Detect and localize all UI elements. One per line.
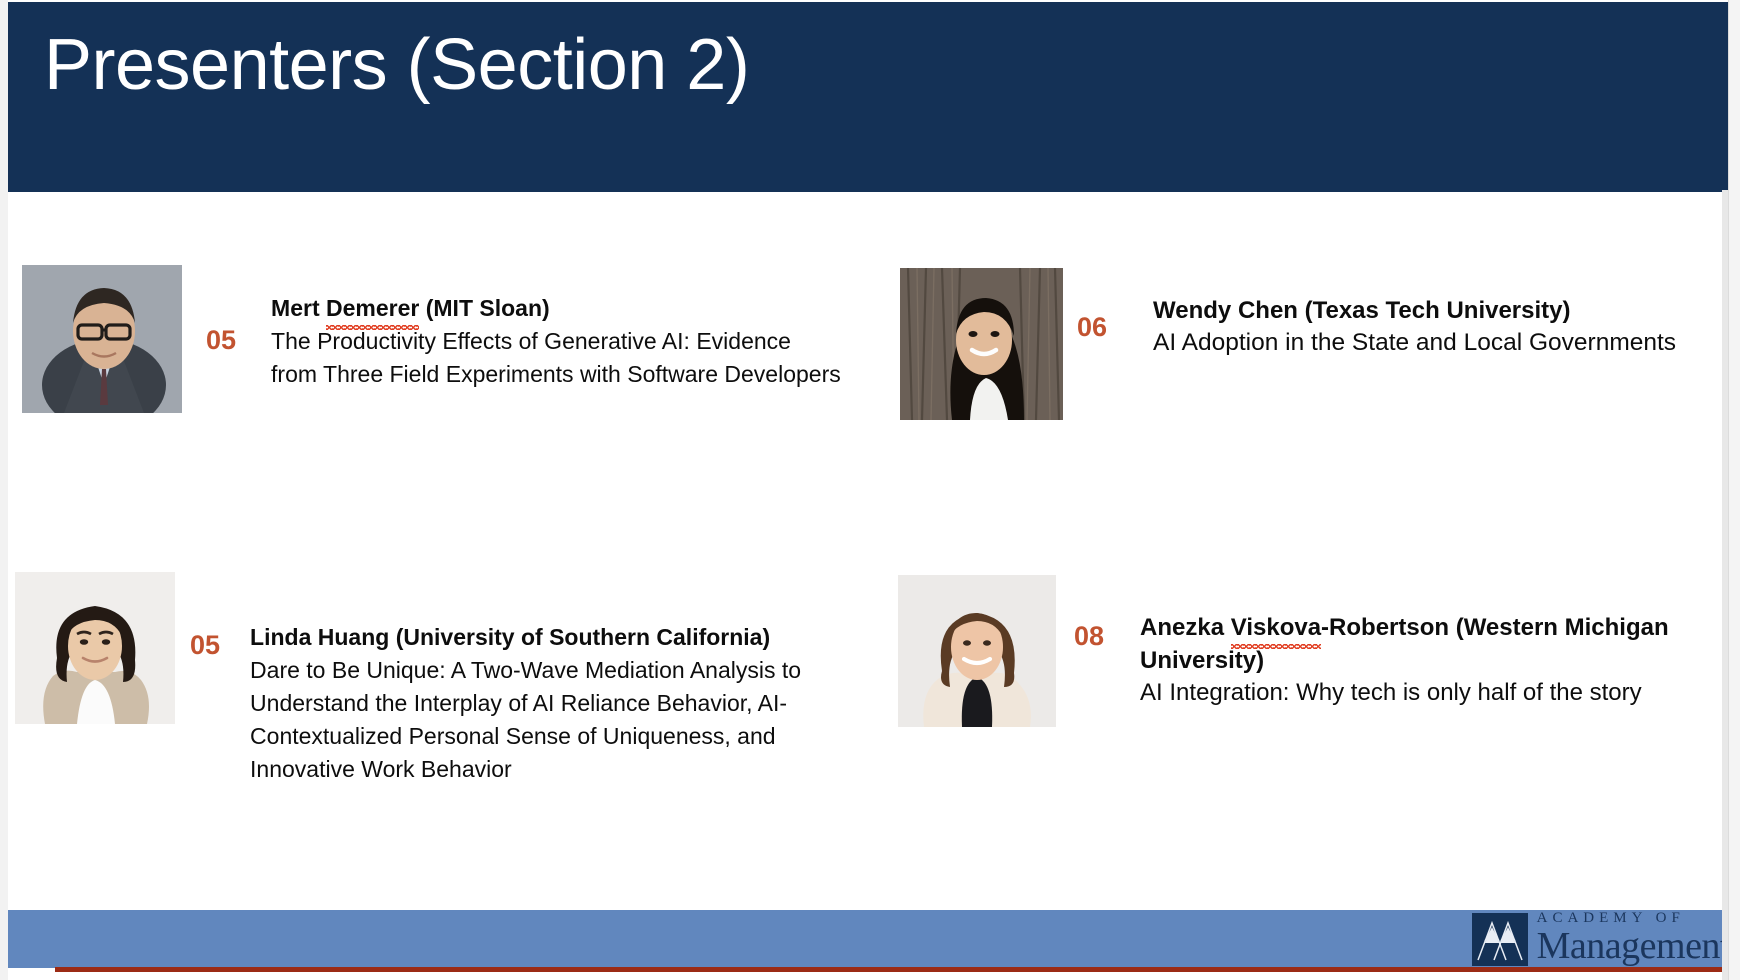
presenter-paper-title-4: AI Integration: Why tech is only half of…: [1140, 677, 1736, 709]
slide-title-banner: Presenters (Section 2): [8, 2, 1730, 192]
presenter-number-2: 06: [1077, 314, 1107, 341]
slide-left-gutter: [0, 0, 8, 980]
aom-wordmark-line2: Management: [1537, 927, 1730, 965]
presentation-slide: Presenters (Section 2) 05 Mert Demerer (…: [0, 0, 1740, 980]
presenter-paper-title-1: The Productivity Effects of Generative A…: [271, 325, 842, 391]
presenter-name-1-part-b: (MIT Sloan): [419, 295, 549, 321]
presenter-name-1-part-a: Mert: [271, 295, 326, 321]
presenter-entry-2: 06 Wendy Chen (Texas Tech University) AI…: [900, 268, 1730, 420]
slide-footer-rule: [55, 967, 1730, 972]
presenter-photo-4: [898, 575, 1056, 727]
presenter-paper-title-2: AI Adoption in the State and Local Gover…: [1153, 327, 1730, 360]
presenter-photo-3: [15, 572, 175, 724]
presenter-photo-2: [900, 268, 1063, 420]
presenter-name-1: Mert Demerer (MIT Sloan): [271, 293, 842, 325]
presenter-name-1-misspelled: Demerer: [326, 293, 419, 325]
presenter-number-3: 05: [190, 632, 220, 659]
presenter-entry-1: 05 Mert Demerer (MIT Sloan) The Producti…: [22, 265, 842, 413]
presenter-entry-4: 08 Anezka Viskova-Robertson (Western Mic…: [898, 575, 1736, 727]
page-title: Presenters (Section 2): [44, 24, 749, 106]
presenter-text-block-4: Anezka Viskova-Robertson (Western Michig…: [1140, 611, 1736, 710]
presenter-name-4: Anezka Viskova-Robertson (Western Michig…: [1140, 611, 1736, 677]
presenter-number-4: 08: [1074, 623, 1104, 650]
presenter-text-block-3: Linda Huang (University of Southern Cali…: [250, 622, 845, 786]
presenter-name-2: Wendy Chen (Texas Tech University): [1153, 294, 1730, 327]
presenter-paper-title-3: Dare to Be Unique: A Two-Wave Mediation …: [250, 654, 845, 786]
presenter-name-4-part-a: Anezka: [1140, 614, 1231, 641]
aom-mountain-mark-icon: [1472, 913, 1528, 966]
aom-wordmark-line1: ACADEMY OF: [1537, 911, 1730, 926]
presenter-text-block-2: Wendy Chen (Texas Tech University) AI Ad…: [1153, 294, 1730, 360]
presenter-text-block-1: Mert Demerer (MIT Sloan) The Productivit…: [271, 293, 842, 391]
presenter-number-1: 05: [206, 327, 236, 354]
presenter-photo-1: [22, 265, 182, 413]
presenter-name-4-misspelled: Viskova: [1231, 611, 1321, 644]
vertical-scrollbar-track[interactable]: [1728, 0, 1740, 980]
aom-wordmark: ACADEMY OF Management: [1537, 911, 1730, 966]
academy-of-management-logo: ACADEMY OF Management: [1472, 910, 1730, 966]
presenter-name-3: Linda Huang (University of Southern Cali…: [250, 622, 845, 654]
presenter-entry-3: 05 Linda Huang (University of Southern C…: [15, 572, 845, 786]
